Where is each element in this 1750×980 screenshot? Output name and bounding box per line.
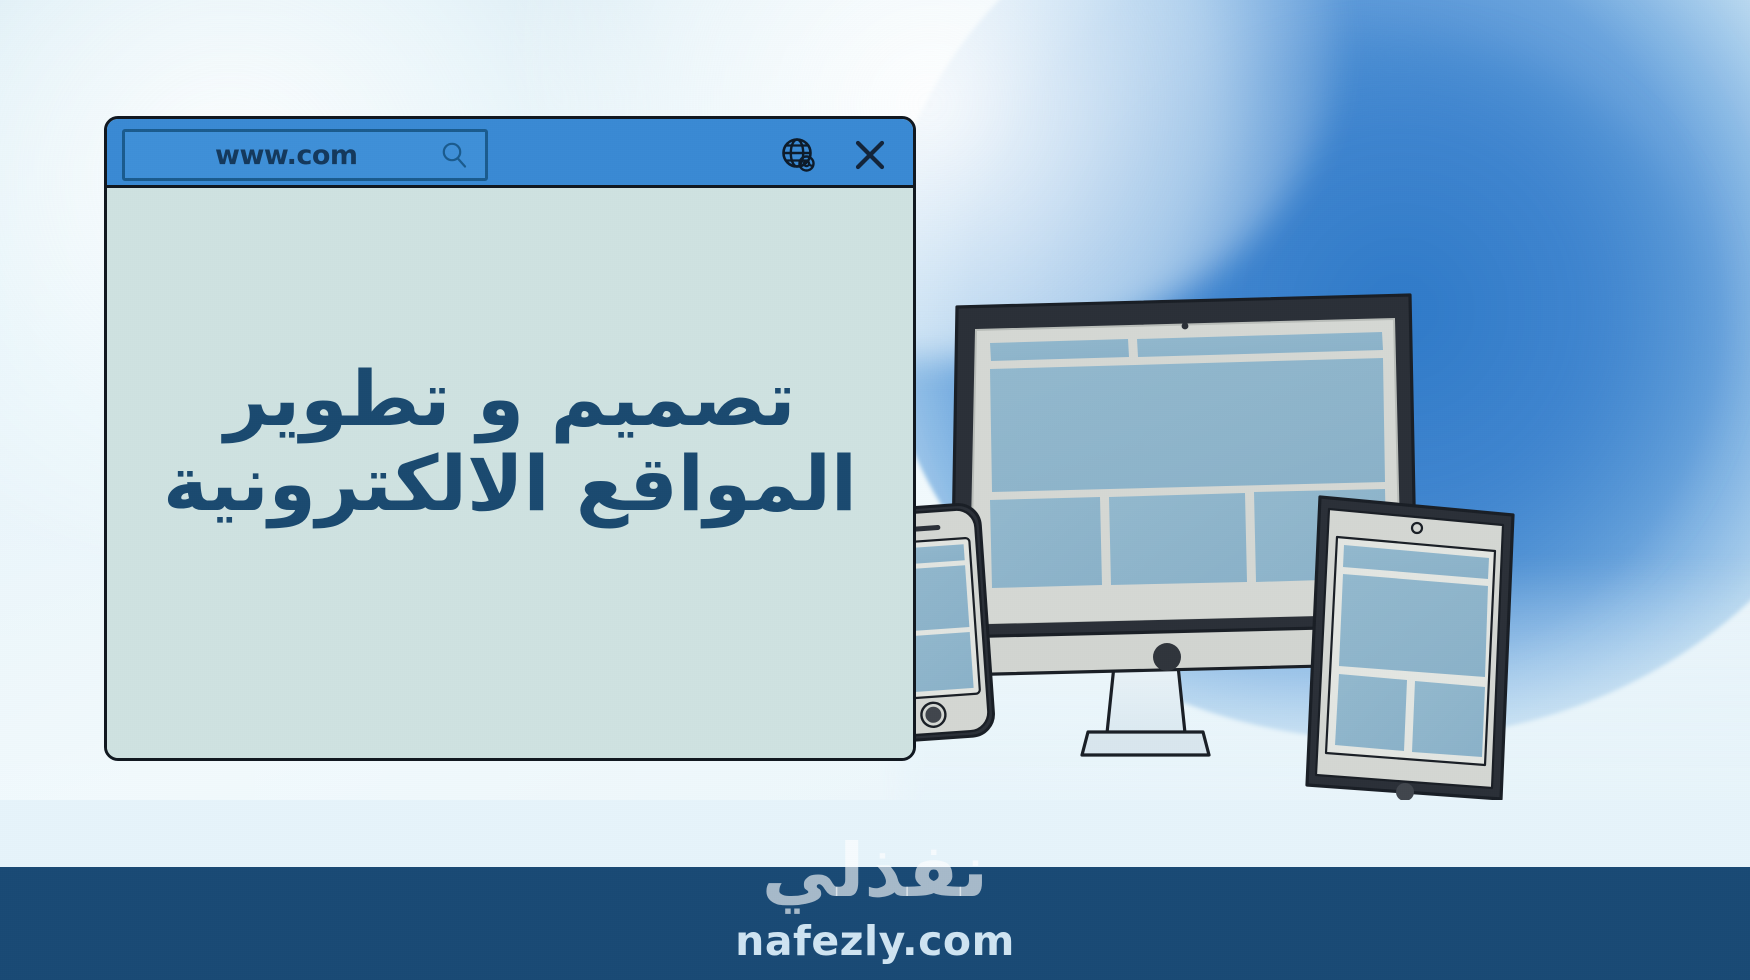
tablet <box>1307 497 1513 801</box>
browser-chrome-bar: www.com <box>107 119 913 188</box>
browser-window: www.com <box>104 116 916 761</box>
tablet-camera-icon <box>1412 523 1422 533</box>
brand-logo-latin: nafezly.com <box>0 921 1750 962</box>
tablet-home-button-icon <box>1396 783 1414 801</box>
search-icon[interactable] <box>437 138 471 172</box>
globe-at-icon[interactable] <box>777 134 819 176</box>
devices-illustration <box>845 285 1565 825</box>
chrome-action-group <box>777 129 891 181</box>
monitor-camera-icon <box>1182 323 1189 330</box>
page-title: تصميم و تطوير المواقع الالكترونية <box>107 356 913 526</box>
device-group <box>845 285 1565 825</box>
poster-canvas: www.com <box>0 0 1750 980</box>
brand-logo-arabic: نفذلي <box>0 834 1750 908</box>
address-bar-text[interactable]: www.com <box>215 140 358 171</box>
browser-viewport: تصميم و تطوير المواقع الالكترونية <box>107 188 913 758</box>
monitor-power-icon <box>1153 643 1181 671</box>
close-icon[interactable] <box>849 134 891 176</box>
address-bar[interactable]: www.com <box>122 129 488 181</box>
